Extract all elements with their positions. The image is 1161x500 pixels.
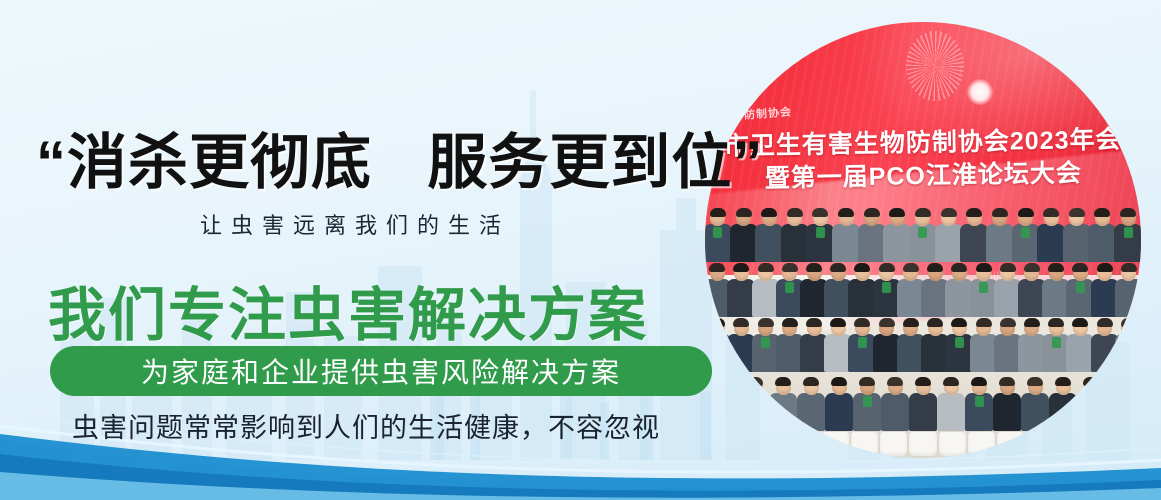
- crowd-person: [1114, 209, 1141, 261]
- person-hair: [976, 263, 992, 272]
- person-body: [1063, 224, 1091, 262]
- crowd-person: [1063, 209, 1091, 261]
- crowd-person: [1043, 319, 1069, 371]
- person-hair: [864, 208, 880, 217]
- crowd-person: [832, 209, 860, 261]
- person-lanyard: [863, 396, 872, 407]
- crowd-person: [824, 378, 854, 430]
- crowd-person: [825, 264, 851, 316]
- crowd-person: [705, 209, 732, 261]
- crowd-person: [752, 319, 778, 371]
- person-hair: [903, 318, 919, 327]
- person-hair: [915, 208, 931, 217]
- person-hair: [803, 377, 819, 386]
- person-hair: [1048, 263, 1064, 272]
- person-hair: [1000, 318, 1016, 327]
- crowd-person: [898, 319, 924, 371]
- crowd-row: [705, 264, 1141, 316]
- person-body: [781, 224, 809, 262]
- crowd-person: [1104, 378, 1134, 430]
- crowd-person: [992, 378, 1022, 430]
- chair: [764, 432, 791, 456]
- person-hair: [812, 208, 828, 217]
- person-hair: [830, 318, 846, 327]
- person-hair: [1120, 208, 1136, 217]
- person-hair: [709, 263, 725, 272]
- stage-emblem-icon: [906, 31, 964, 101]
- crowd-person: [858, 209, 886, 261]
- footer-tagline: 虫害问题常常影响到人们的生活健康，不容忽视: [72, 406, 660, 445]
- crowd-person: [1067, 319, 1093, 371]
- person-hair: [1121, 263, 1137, 272]
- person-hair: [719, 377, 735, 386]
- person-hair: [1094, 208, 1110, 217]
- crowd-person: [970, 319, 996, 371]
- headline-part-2: 服务更到位”: [427, 129, 763, 196]
- person-body: [960, 224, 988, 262]
- crowd-person: [1116, 264, 1141, 316]
- crowd-person: [796, 378, 826, 430]
- person-hair: [1027, 377, 1043, 386]
- person-lanyard: [751, 396, 760, 407]
- person-lanyard: [1021, 227, 1030, 238]
- crowd-person: [740, 378, 770, 430]
- person-hair: [733, 263, 749, 272]
- crowd-person: [874, 319, 900, 371]
- stage-spotlight-icon: [967, 79, 993, 105]
- crowd-person: [728, 264, 754, 316]
- crowd-person: [986, 209, 1014, 261]
- person-hair: [775, 377, 791, 386]
- person-lanyard: [713, 227, 722, 238]
- person-hair: [838, 208, 854, 217]
- person-body: [1105, 393, 1133, 431]
- person-hair: [927, 318, 943, 327]
- person-hair: [879, 318, 895, 327]
- chair: [880, 432, 907, 456]
- page-title: “消杀更彻底 服务更到位”: [36, 114, 763, 201]
- person-hair: [854, 318, 870, 327]
- headline-part-1: “消杀更彻底: [36, 129, 372, 196]
- person-hair: [1043, 208, 1059, 217]
- crowd-person: [946, 319, 972, 371]
- person-hair: [1097, 263, 1113, 272]
- person-lanyard: [816, 227, 825, 238]
- crowd-person: [995, 264, 1021, 316]
- person-lanyard: [918, 227, 927, 238]
- chair: [968, 432, 995, 456]
- person-hair: [859, 377, 875, 386]
- crowd-person: [1037, 209, 1065, 261]
- crowd-person: [884, 209, 912, 261]
- person-body: [986, 224, 1014, 262]
- person-body: [1088, 224, 1116, 262]
- person-hair: [1072, 263, 1088, 272]
- person-hair: [831, 377, 847, 386]
- chair: [939, 432, 966, 456]
- crowd-row: [705, 209, 1141, 261]
- person-hair: [999, 377, 1015, 386]
- person-hair: [733, 318, 749, 327]
- person-body: [1049, 393, 1077, 431]
- person-lanyard: [761, 337, 770, 348]
- person-hair: [951, 318, 967, 327]
- crowd-person: [964, 378, 994, 430]
- person-body: [769, 393, 797, 431]
- crowd-person: [728, 319, 754, 371]
- crowd-person: [755, 209, 783, 261]
- person-body: [935, 224, 963, 262]
- crowd-person: [1092, 264, 1118, 316]
- crowd-person: [801, 264, 827, 316]
- person-body: [730, 224, 758, 262]
- chair: [793, 432, 820, 456]
- chair-row: [705, 432, 1141, 456]
- crowd-row: [705, 319, 1141, 371]
- person-hair: [782, 263, 798, 272]
- person-hair: [736, 208, 752, 217]
- person-body: [909, 393, 937, 431]
- service-pill-label: 为家庭和企业提供虫害风险解决方案: [141, 351, 621, 391]
- person-hair: [830, 263, 846, 272]
- person-hair: [941, 208, 957, 217]
- crowd-person: [922, 319, 948, 371]
- crowd-person: [1089, 209, 1117, 261]
- person-hair: [927, 263, 943, 272]
- person-hair: [806, 318, 822, 327]
- person-hair: [758, 263, 774, 272]
- crowd-person: [908, 378, 938, 430]
- crowd-person: [1048, 378, 1078, 430]
- chair: [735, 432, 762, 456]
- person-hair: [1072, 318, 1088, 327]
- crowd-person: [777, 264, 803, 316]
- crowd-person: [825, 319, 851, 371]
- person-hair: [1069, 208, 1085, 217]
- crowd-person: [995, 319, 1021, 371]
- person-lanyard: [955, 337, 964, 348]
- person-hair: [1000, 263, 1016, 272]
- person-hair: [710, 208, 726, 217]
- person-hair: [1097, 318, 1113, 327]
- chair: [909, 432, 936, 456]
- crowd-person: [1116, 319, 1141, 371]
- person-hair: [887, 377, 903, 386]
- person-body: [713, 393, 741, 431]
- crowd-person: [1067, 264, 1093, 316]
- person-body: [881, 393, 909, 431]
- chair: [1055, 432, 1082, 456]
- person-hair: [943, 377, 959, 386]
- person-body: [993, 393, 1021, 431]
- crowd-person: [801, 319, 827, 371]
- chair: [1026, 432, 1053, 456]
- person-hair: [951, 263, 967, 272]
- person-hair: [782, 318, 798, 327]
- crowd-person: [768, 378, 798, 430]
- person-lanyard: [1052, 337, 1061, 348]
- chair: [1113, 432, 1140, 456]
- crowd-person: [880, 378, 910, 430]
- conference-photo-circle: 防制协会 市卫生有害生物防制协会2023年会 暨第一届PCO江淮论坛大会: [705, 22, 1141, 458]
- person-body: [755, 224, 783, 262]
- person-body: [1037, 224, 1065, 262]
- person-hair: [1111, 377, 1127, 386]
- person-hair: [747, 377, 763, 386]
- person-hair: [1121, 318, 1137, 327]
- person-hair: [879, 263, 895, 272]
- crowd-person: [936, 378, 966, 430]
- crowd-person: [777, 319, 803, 371]
- person-hair: [1024, 318, 1040, 327]
- crowd-person: [807, 209, 835, 261]
- crowd-person: [1092, 319, 1118, 371]
- crowd-person: [1019, 264, 1045, 316]
- hero-banner: 防制协会 市卫生有害生物防制协会2023年会 暨第一届PCO江淮论坛大会 “消杀…: [0, 0, 1161, 500]
- person-hair: [1055, 377, 1071, 386]
- crowd-person: [970, 264, 996, 316]
- person-hair: [889, 208, 905, 217]
- person-hair: [854, 263, 870, 272]
- person-body: [1115, 334, 1141, 372]
- person-hair: [976, 318, 992, 327]
- crowd-person: [849, 319, 875, 371]
- crowd-person: [960, 209, 988, 261]
- person-hair: [1018, 208, 1034, 217]
- crowd-person: [712, 378, 742, 430]
- person-body: [797, 393, 825, 431]
- person-lanyard: [1087, 396, 1096, 407]
- person-lanyard: [1124, 227, 1133, 238]
- person-body: [883, 224, 911, 262]
- stage-banner-line-2: 暨第一届PCO江淮论坛大会: [705, 156, 1141, 197]
- crowd-person: [898, 264, 924, 316]
- crowd-person: [1020, 378, 1050, 430]
- headline-subtitle: 让虫害远离我们的生活: [200, 208, 510, 240]
- person-hair: [971, 377, 987, 386]
- crowd-person: [922, 264, 948, 316]
- person-body: [832, 224, 860, 262]
- crowd-person: [752, 264, 778, 316]
- person-body: [1115, 279, 1141, 317]
- person-lanyard: [785, 282, 794, 293]
- person-body: [1021, 393, 1049, 431]
- person-body: [858, 224, 886, 262]
- crowd-person: [730, 209, 758, 261]
- crowd-person: [909, 209, 937, 261]
- person-hair: [806, 263, 822, 272]
- person-hair: [992, 208, 1008, 217]
- chair: [706, 432, 733, 456]
- person-hair: [966, 208, 982, 217]
- chair: [997, 432, 1024, 456]
- crowd-person: [852, 378, 882, 430]
- crowd-person: [1043, 264, 1069, 316]
- stage-banner-title: 市卫生有害生物防制协会2023年会 暨第一届PCO江淮论坛大会: [705, 123, 1141, 197]
- person-lanyard: [858, 337, 867, 348]
- crowd-person: [1076, 378, 1106, 430]
- crowd-person: [1019, 319, 1045, 371]
- person-lanyard: [1076, 282, 1085, 293]
- person-hair: [1048, 318, 1064, 327]
- person-hair: [709, 318, 725, 327]
- crowd-person: [849, 264, 875, 316]
- person-body: [937, 393, 965, 431]
- crowd-person: [781, 209, 809, 261]
- green-headline: 我们专注虫害解决方案: [48, 268, 648, 352]
- person-hair: [1083, 377, 1099, 386]
- chair: [822, 432, 849, 456]
- group-photo-crowd: [705, 209, 1141, 458]
- person-hair: [787, 208, 803, 217]
- photo-content: 防制协会 市卫生有害生物防制协会2023年会 暨第一届PCO江淮论坛大会: [705, 22, 1141, 458]
- person-hair: [758, 318, 774, 327]
- person-lanyard: [975, 396, 984, 407]
- person-hair: [1024, 263, 1040, 272]
- chair: [1084, 432, 1111, 456]
- crowd-person: [1012, 209, 1040, 261]
- crowd-person: [946, 264, 972, 316]
- person-hair: [903, 263, 919, 272]
- chair: [851, 432, 878, 456]
- person-body: [825, 393, 853, 431]
- service-pill-banner: 为家庭和企业提供虫害风险解决方案: [50, 346, 712, 396]
- person-hair: [761, 208, 777, 217]
- crowd-person: [874, 264, 900, 316]
- crowd-row: [705, 378, 1141, 430]
- crowd-person: [935, 209, 963, 261]
- person-lanyard: [979, 282, 988, 293]
- person-lanyard: [882, 282, 891, 293]
- person-hair: [915, 377, 931, 386]
